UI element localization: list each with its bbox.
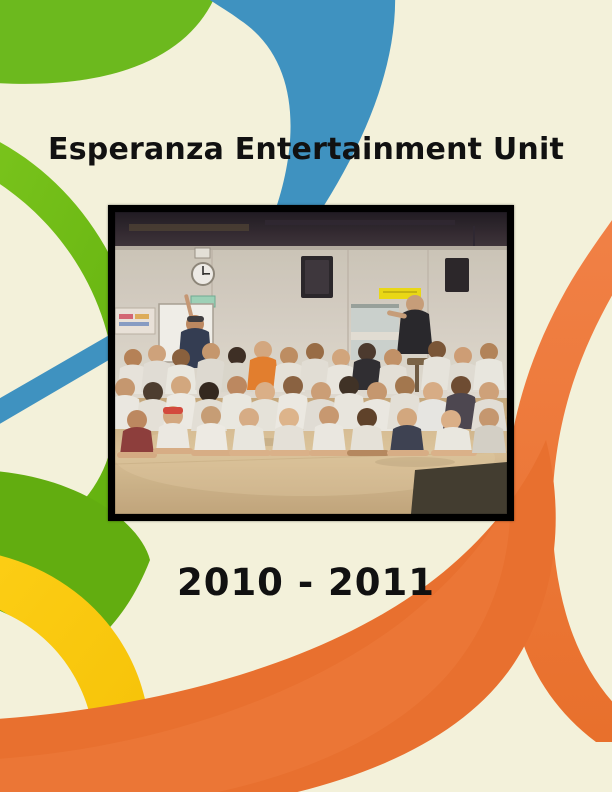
cover-page: Esperanza Entertainment Unit [0, 0, 612, 792]
cover-photo [115, 212, 507, 514]
cover-photo-frame [108, 205, 514, 521]
year-range: 2010 - 2011 [0, 560, 612, 606]
page-title: Esperanza Entertainment Unit [0, 130, 612, 170]
group-photo-illustration [115, 212, 507, 514]
